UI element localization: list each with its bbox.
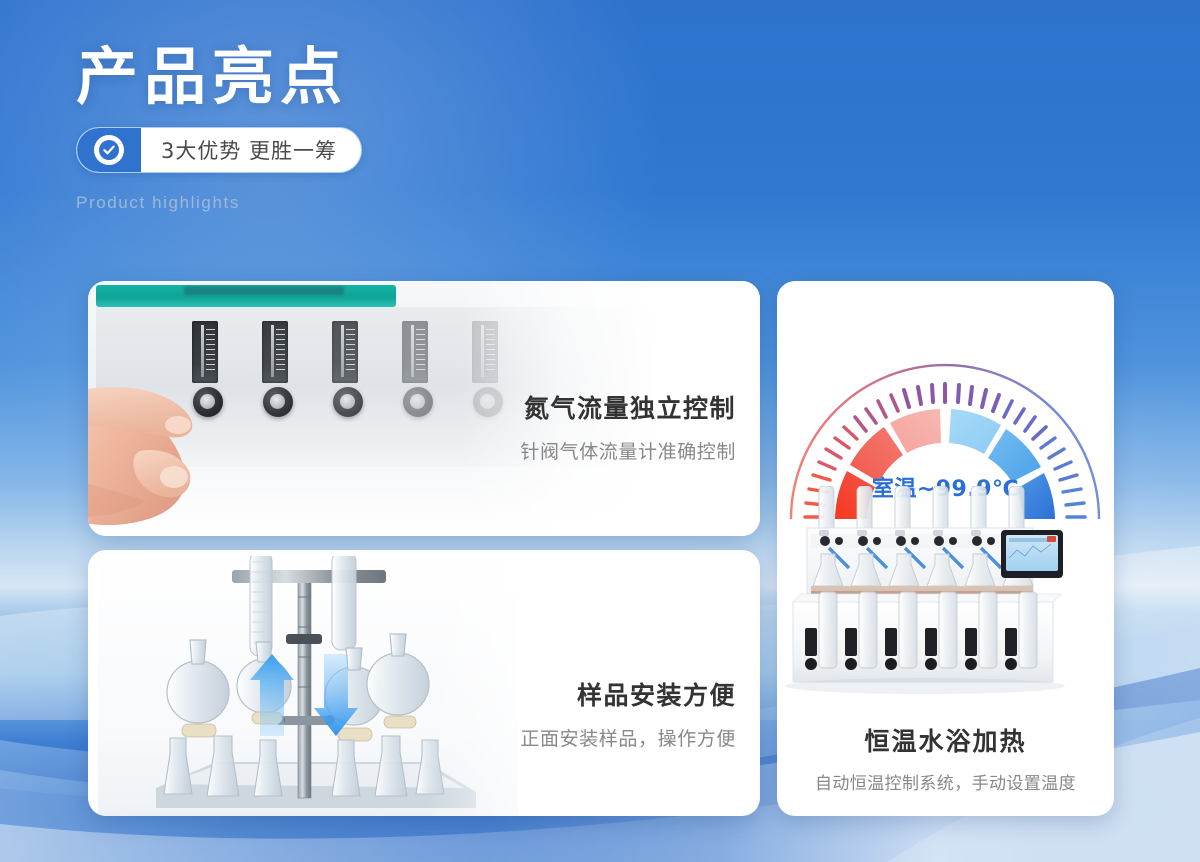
card-water-bath-heating-subtitle: 自动恒温控制系统，手动设置温度 <box>777 769 1114 794</box>
card-sample-install-subtitle: 正面安装样品，操作方便 <box>520 724 736 751</box>
instrument-header-text-blur <box>184 286 344 295</box>
page-title: 产品亮点 <box>76 44 362 111</box>
card-sample-install-title: 样品安装方便 <box>520 676 736 712</box>
card-nitrogen-flow-title: 氮气流量独立控制 <box>520 389 736 425</box>
highlight-cards: 氮气流量独立控制 针阀气体流量计准确控制 <box>88 281 1114 816</box>
card-sample-install[interactable]: 样品安装方便 正面安装样品，操作方便 <box>88 550 760 816</box>
card-water-bath-heating-text: 恒温水浴加热 自动恒温控制系统，手动设置温度 <box>777 722 1114 794</box>
advantage-badge: 3大优势 更胜一筹 <box>76 127 362 173</box>
card-nitrogen-flow-subtitle: 针阀气体流量计准确控制 <box>520 437 736 464</box>
card-water-bath-heating-title: 恒温水浴加热 <box>777 722 1114 758</box>
hand-illustration <box>88 355 264 533</box>
card-water-bath-heating[interactable]: 室温~99.9℃ <box>777 281 1114 816</box>
glassware-photo <box>98 550 518 816</box>
card-sample-install-text: 样品安装方便 正面安装样品，操作方便 <box>520 676 736 751</box>
distillation-unit-photo <box>785 486 1106 701</box>
card-nitrogen-flow-text: 氮气流量独立控制 针阀气体流量计准确控制 <box>520 389 736 464</box>
check-circle-background <box>94 135 124 165</box>
check-circle-icon <box>77 128 141 172</box>
card-nitrogen-flow[interactable]: 氮气流量独立控制 针阀气体流量计准确控制 <box>88 281 760 536</box>
page-header: 产品亮点 3大优势 更胜一筹 Product highlights <box>76 44 362 213</box>
page-subtitle: Product highlights <box>76 193 362 213</box>
touchscreen-display <box>1001 530 1063 578</box>
advantage-badge-label: 3大优势 更胜一筹 <box>141 128 361 172</box>
instrument-teal-header-bar <box>96 285 396 307</box>
